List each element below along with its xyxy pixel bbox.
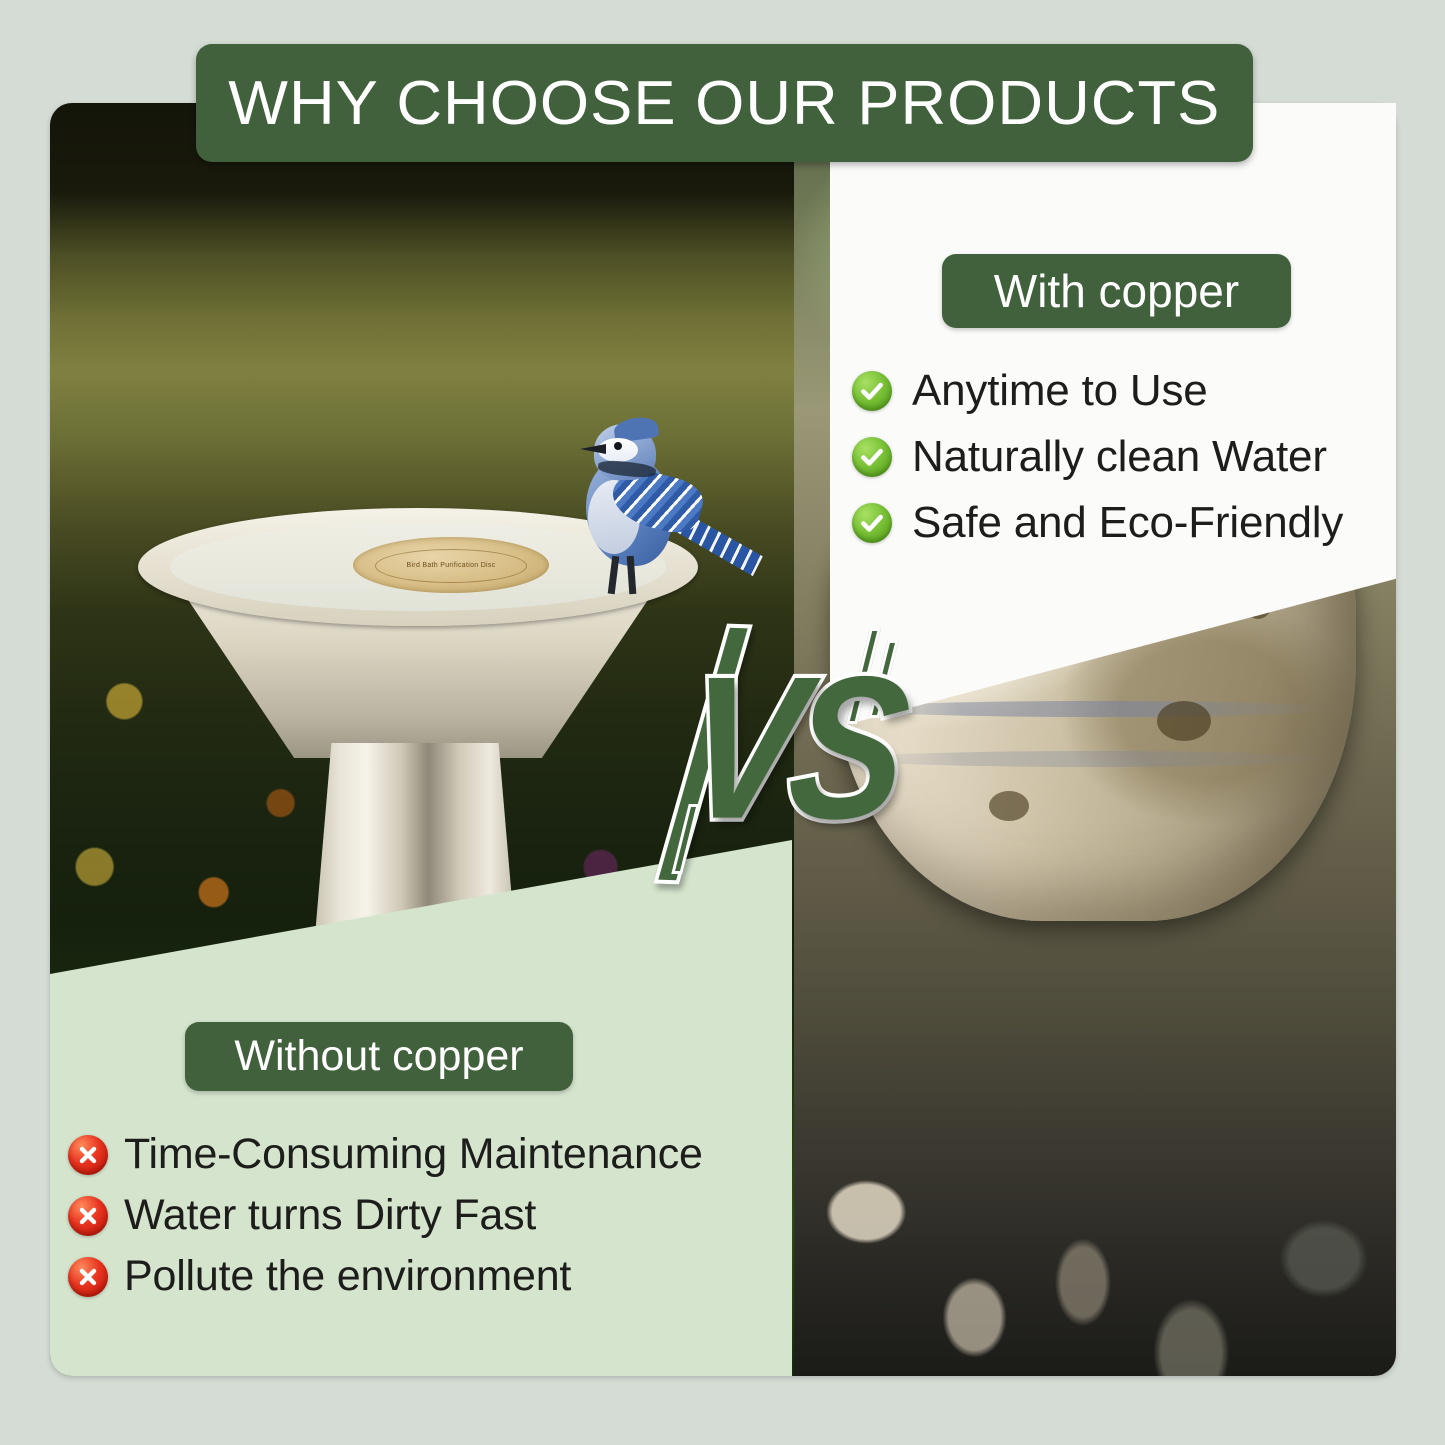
without-copper-list: Time-Consuming Maintenance Water turns D…	[68, 1130, 703, 1313]
list-item: Water turns Dirty Fast	[68, 1191, 703, 1240]
blue-jay-eye	[614, 442, 622, 450]
without-copper-badge-label: Without copper	[234, 1032, 523, 1081]
list-item: Time-Consuming Maintenance	[68, 1130, 703, 1179]
copper-disc: Bird Bath Purification Disc	[353, 537, 549, 593]
check-circle-icon	[852, 437, 892, 477]
pot-grime	[989, 791, 1029, 821]
list-item-label: Naturally clean Water	[912, 432, 1327, 482]
with-copper-badge-label: With copper	[994, 264, 1239, 318]
blue-jay-leg	[608, 556, 620, 595]
pot-ring	[853, 751, 1335, 767]
with-copper-badge: With copper	[942, 254, 1291, 328]
list-item: Pollute the environment	[68, 1252, 703, 1301]
list-item: Naturally clean Water	[852, 432, 1343, 482]
list-item: Safe and Eco-Friendly	[852, 498, 1343, 548]
cross-circle-icon	[68, 1196, 108, 1236]
copper-disc-label: Bird Bath Purification Disc	[375, 549, 527, 583]
list-item-label: Safe and Eco-Friendly	[912, 498, 1343, 548]
without-copper-badge: Without copper	[185, 1022, 573, 1091]
cross-circle-icon	[68, 1135, 108, 1175]
with-copper-list: Anytime to Use Naturally clean Water Saf…	[852, 366, 1343, 564]
infographic-canvas: Bird Bath Purification Disc	[0, 0, 1445, 1445]
check-circle-icon	[852, 371, 892, 411]
list-item-label: Water turns Dirty Fast	[124, 1191, 536, 1240]
list-item-label: Time-Consuming Maintenance	[124, 1130, 703, 1179]
list-item-label: Pollute the environment	[124, 1252, 571, 1301]
blue-jay-beak	[580, 444, 606, 454]
list-item: Anytime to Use	[852, 366, 1343, 416]
blue-jay	[558, 408, 748, 638]
page-title-badge: WHY CHOOSE OUR PRODUCTS	[196, 44, 1253, 162]
check-circle-icon	[852, 503, 892, 543]
list-item-label: Anytime to Use	[912, 366, 1208, 416]
pot-grime	[1157, 701, 1211, 741]
page-title: WHY CHOOSE OUR PRODUCTS	[228, 68, 1220, 139]
cross-circle-icon	[68, 1257, 108, 1297]
